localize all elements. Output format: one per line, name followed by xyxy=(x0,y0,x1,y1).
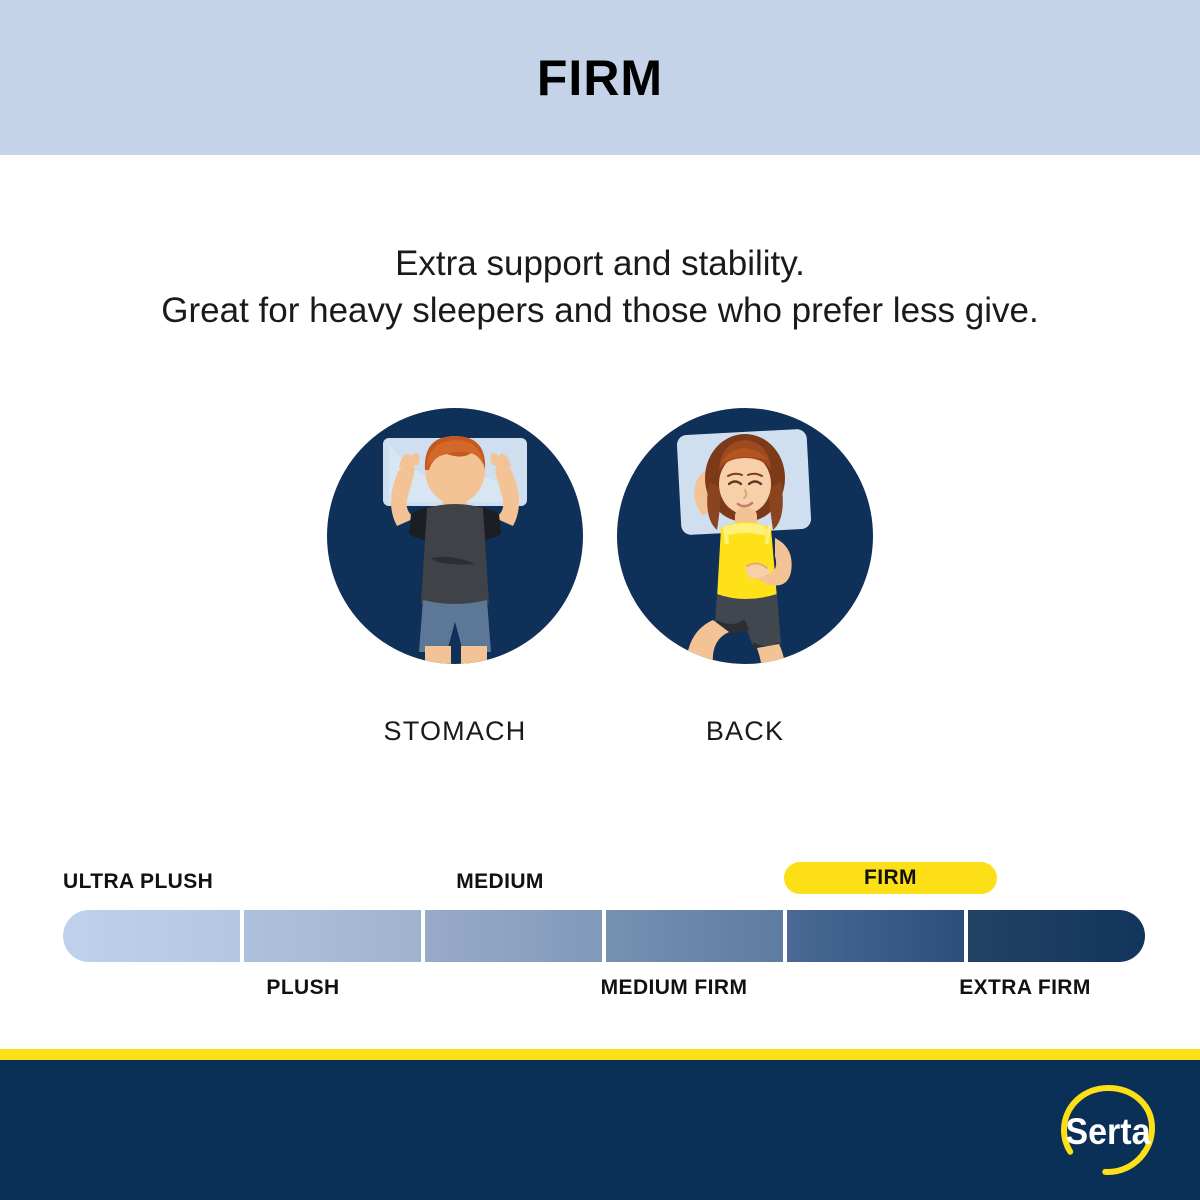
page-title: FIRM xyxy=(537,49,663,107)
scale-label-ultra-plush[interactable]: ULTRA PLUSH xyxy=(63,870,213,894)
footer-accent-stripe xyxy=(0,1049,1200,1060)
subtitle-line-1: Extra support and stability. xyxy=(0,240,1200,287)
scale-segment-ultra-plush[interactable] xyxy=(63,910,244,962)
scale-segment-firm[interactable] xyxy=(787,910,968,962)
scale-label-medium-firm[interactable]: MEDIUM FIRM xyxy=(584,976,764,1000)
scale-label-firm-selected-badge[interactable]: FIRM xyxy=(784,862,997,894)
scale-labels-top: ULTRA PLUSH MEDIUM FIRM xyxy=(63,862,1145,910)
position-label-back: BACK xyxy=(706,716,784,747)
scale-segment-medium[interactable] xyxy=(425,910,606,962)
scale-label-plush[interactable]: PLUSH xyxy=(213,976,393,1000)
stomach-sleeper-illustration xyxy=(327,408,583,664)
sleep-positions: STOMACH xyxy=(0,408,1200,747)
firmness-scale: ULTRA PLUSH MEDIUM FIRM PLUSH MEDIUM FIR… xyxy=(63,862,1145,1012)
back-sleeper-illustration xyxy=(617,408,873,664)
scale-segment-medium-firm[interactable] xyxy=(606,910,787,962)
serta-logo-text: Serta xyxy=(1065,1111,1150,1153)
scale-labels-bottom: PLUSH MEDIUM FIRM EXTRA FIRM xyxy=(63,968,1145,1008)
scale-segment-extra-firm[interactable] xyxy=(968,910,1145,962)
subtitle-line-2: Great for heavy sleepers and those who p… xyxy=(0,287,1200,334)
position-card-back: BACK xyxy=(615,408,875,747)
position-label-stomach: STOMACH xyxy=(384,716,527,747)
scale-label-medium[interactable]: MEDIUM xyxy=(410,870,590,894)
subtitle-block: Extra support and stability. Great for h… xyxy=(0,240,1200,335)
serta-logo: Serta ® xyxy=(1058,1082,1158,1178)
scale-segment-plush[interactable] xyxy=(244,910,425,962)
scale-label-extra-firm[interactable]: EXTRA FIRM xyxy=(935,976,1115,1000)
header-band: FIRM xyxy=(0,0,1200,155)
footer-band: Serta ® xyxy=(0,1060,1200,1200)
position-card-stomach: STOMACH xyxy=(325,408,585,747)
serta-logo-trademark: ® xyxy=(1141,1148,1148,1158)
scale-bar[interactable] xyxy=(63,910,1145,962)
